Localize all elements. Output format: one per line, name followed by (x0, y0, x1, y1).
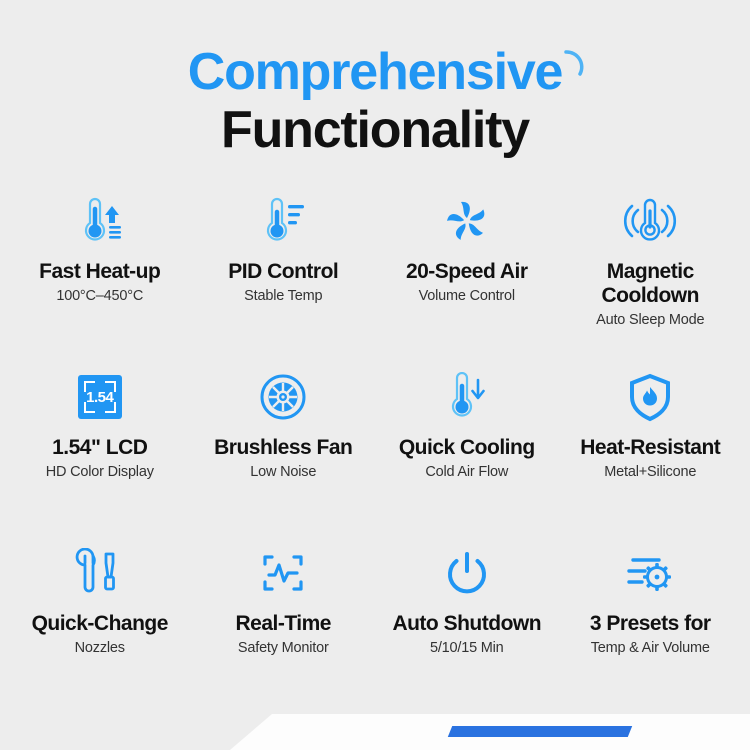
feature-subtitle: HD Color Display (46, 464, 154, 481)
lcd-size-label: 1.54 (86, 389, 113, 406)
feature-subtitle: Low Noise (250, 464, 316, 481)
feature-subtitle: Cold Air Flow (425, 464, 508, 481)
feature-title: Magnetic Cooldown (563, 260, 739, 308)
feature-title: 3 Presets for (590, 612, 711, 636)
feature-card-presets: 3 Presets for Temp & Air Volume (559, 544, 743, 720)
brushless-rotor-icon (258, 368, 308, 426)
feature-card-pid-control: PID Control Stable Temp (192, 192, 376, 368)
feature-card-auto-shutdown: Auto Shutdown 5/10/15 Min (375, 544, 559, 720)
feature-title: Fast Heat-up (39, 260, 160, 284)
feature-card-20-speed-air: 20-Speed Air Volume Control (375, 192, 559, 368)
feature-card-quick-change: Quick-Change Nozzles (8, 544, 192, 720)
feature-subtitle: Volume Control (419, 288, 515, 305)
lcd-screen-icon: 1.54 (78, 368, 122, 426)
feature-grid: Fast Heat-up 100°C–450°C PID Control Sta… (0, 192, 750, 720)
thermometer-levels-icon (257, 192, 309, 250)
feature-title: Quick Cooling (399, 436, 535, 460)
feature-title: 1.54" LCD (52, 436, 147, 460)
bottom-decoration-band (0, 714, 750, 750)
feature-subtitle: Temp & Air Volume (591, 640, 710, 657)
shield-flame-icon (627, 368, 673, 426)
wrench-screwdriver-icon (75, 544, 125, 602)
scan-waveform-icon (258, 544, 308, 602)
feature-title: Brushless Fan (214, 436, 352, 460)
feature-subtitle: Metal+Silicone (604, 464, 696, 481)
feature-title: PID Control (228, 260, 338, 284)
feature-card-fast-heat-up: Fast Heat-up 100°C–450°C (8, 192, 192, 368)
page-title-primary-text: Comprehensive (188, 43, 563, 101)
feature-subtitle: 5/10/15 Min (430, 640, 504, 657)
feature-subtitle: Auto Sleep Mode (596, 312, 704, 329)
feature-subtitle: Safety Monitor (238, 640, 329, 657)
feature-card-lcd: 1.54 1.54" LCD HD Color Display (8, 368, 192, 544)
page-title-primary: Comprehensive (188, 44, 563, 100)
feature-subtitle: Stable Temp (244, 288, 322, 305)
thermometer-up-arrow-icon (74, 192, 126, 250)
feature-title: Real-Time (236, 612, 332, 636)
thermometer-signal-waves-icon (623, 192, 677, 250)
feature-card-real-time: Real-Time Safety Monitor (192, 544, 376, 720)
feature-card-quick-cooling: Quick Cooling Cold Air Flow (375, 368, 559, 544)
feature-subtitle: Nozzles (75, 640, 125, 657)
feature-card-magnetic-cooldown: Magnetic Cooldown Auto Sleep Mode (559, 192, 743, 368)
feature-title: Quick-Change (32, 612, 168, 636)
feature-card-brushless-fan: Brushless Fan Low Noise (192, 368, 376, 544)
feature-highlights-page: { "theme": { "background": "#ededed", "a… (0, 0, 750, 750)
sliders-gear-icon (624, 544, 676, 602)
page-title-secondary: Functionality (0, 102, 750, 158)
feature-subtitle: 100°C–450°C (56, 288, 143, 305)
feature-title: Auto Shutdown (392, 612, 541, 636)
thermometer-down-arrow-icon (441, 368, 493, 426)
page-header: Comprehensive Functionality (0, 0, 750, 158)
feature-card-heat-resistant: Heat-Resistant Metal+Silicone (559, 368, 743, 544)
feature-title: Heat-Resistant (580, 436, 720, 460)
feature-title: 20-Speed Air (406, 260, 528, 284)
power-button-icon (442, 544, 492, 602)
bottom-blue-bar (448, 726, 632, 737)
fan-blades-icon (442, 192, 492, 250)
